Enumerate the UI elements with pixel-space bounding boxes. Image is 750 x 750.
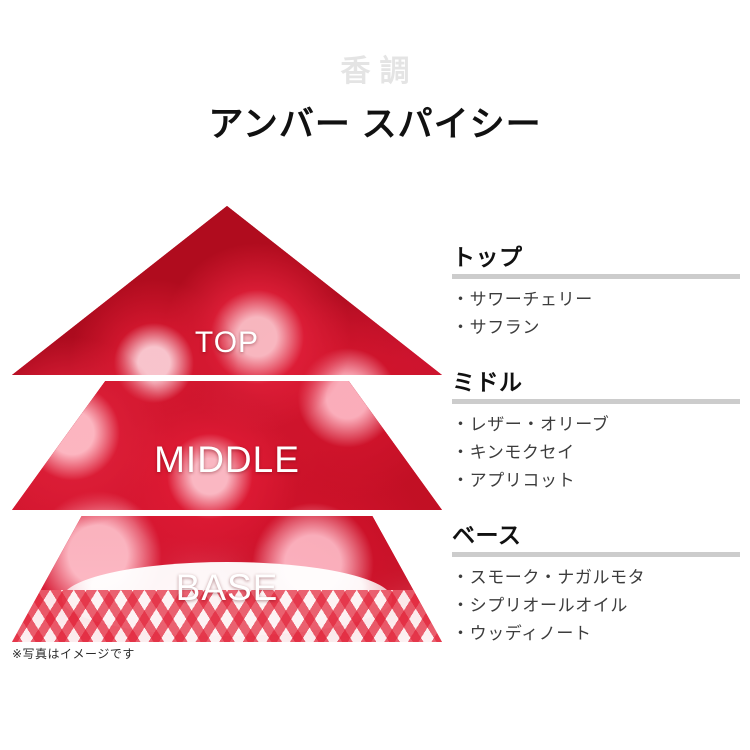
note-heading-base: ベース — [452, 521, 740, 549]
pyramid-tier-base — [12, 516, 442, 642]
note-item: ・レザー・オリーブ — [452, 411, 740, 439]
image-disclaimer: ※写真はイメージです — [12, 645, 135, 662]
note-group-top: トップ ・サワーチェリー ・サフラン — [452, 243, 740, 342]
cherry-photo-fill — [12, 206, 442, 375]
cherry-photo-fill — [12, 516, 442, 642]
note-divider — [452, 399, 740, 404]
note-item: ・シプリオールオイル — [452, 592, 740, 620]
note-item: ・ウッディノート — [452, 620, 740, 648]
cherry-photo-fill — [12, 381, 442, 510]
note-group-middle: ミドル ・レザー・オリーブ ・キンモクセイ ・アプリコット — [452, 368, 740, 495]
note-item: ・サフラン — [452, 314, 740, 342]
checkered-cloth — [12, 590, 442, 642]
page-title: アンバー スパイシー — [0, 103, 750, 147]
note-item: ・キンモクセイ — [452, 439, 740, 467]
note-item: ・スモーク・ナガルモタ — [452, 564, 740, 592]
pyramid-tier-top — [12, 206, 442, 375]
note-item: ・アプリコット — [452, 467, 740, 495]
note-item: ・サワーチェリー — [452, 286, 740, 314]
note-heading-middle: ミドル — [452, 368, 740, 396]
note-group-base: ベース ・スモーク・ナガルモタ ・シプリオールオイル ・ウッディノート — [452, 521, 740, 648]
note-list: トップ ・サワーチェリー ・サフラン ミドル ・レザー・オリーブ ・キンモクセイ… — [452, 243, 740, 648]
fragrance-pyramid: TOP MIDDLE BASE — [12, 206, 442, 642]
section-kicker: 香調 — [0, 52, 750, 92]
note-divider — [452, 552, 740, 557]
note-heading-top: トップ — [452, 243, 740, 271]
pyramid-tier-middle — [12, 381, 442, 510]
fragrance-note-infographic: 香調 アンバー スパイシー TOP MIDDLE BASE ※写真はイメージです… — [0, 0, 750, 750]
note-divider — [452, 274, 740, 279]
